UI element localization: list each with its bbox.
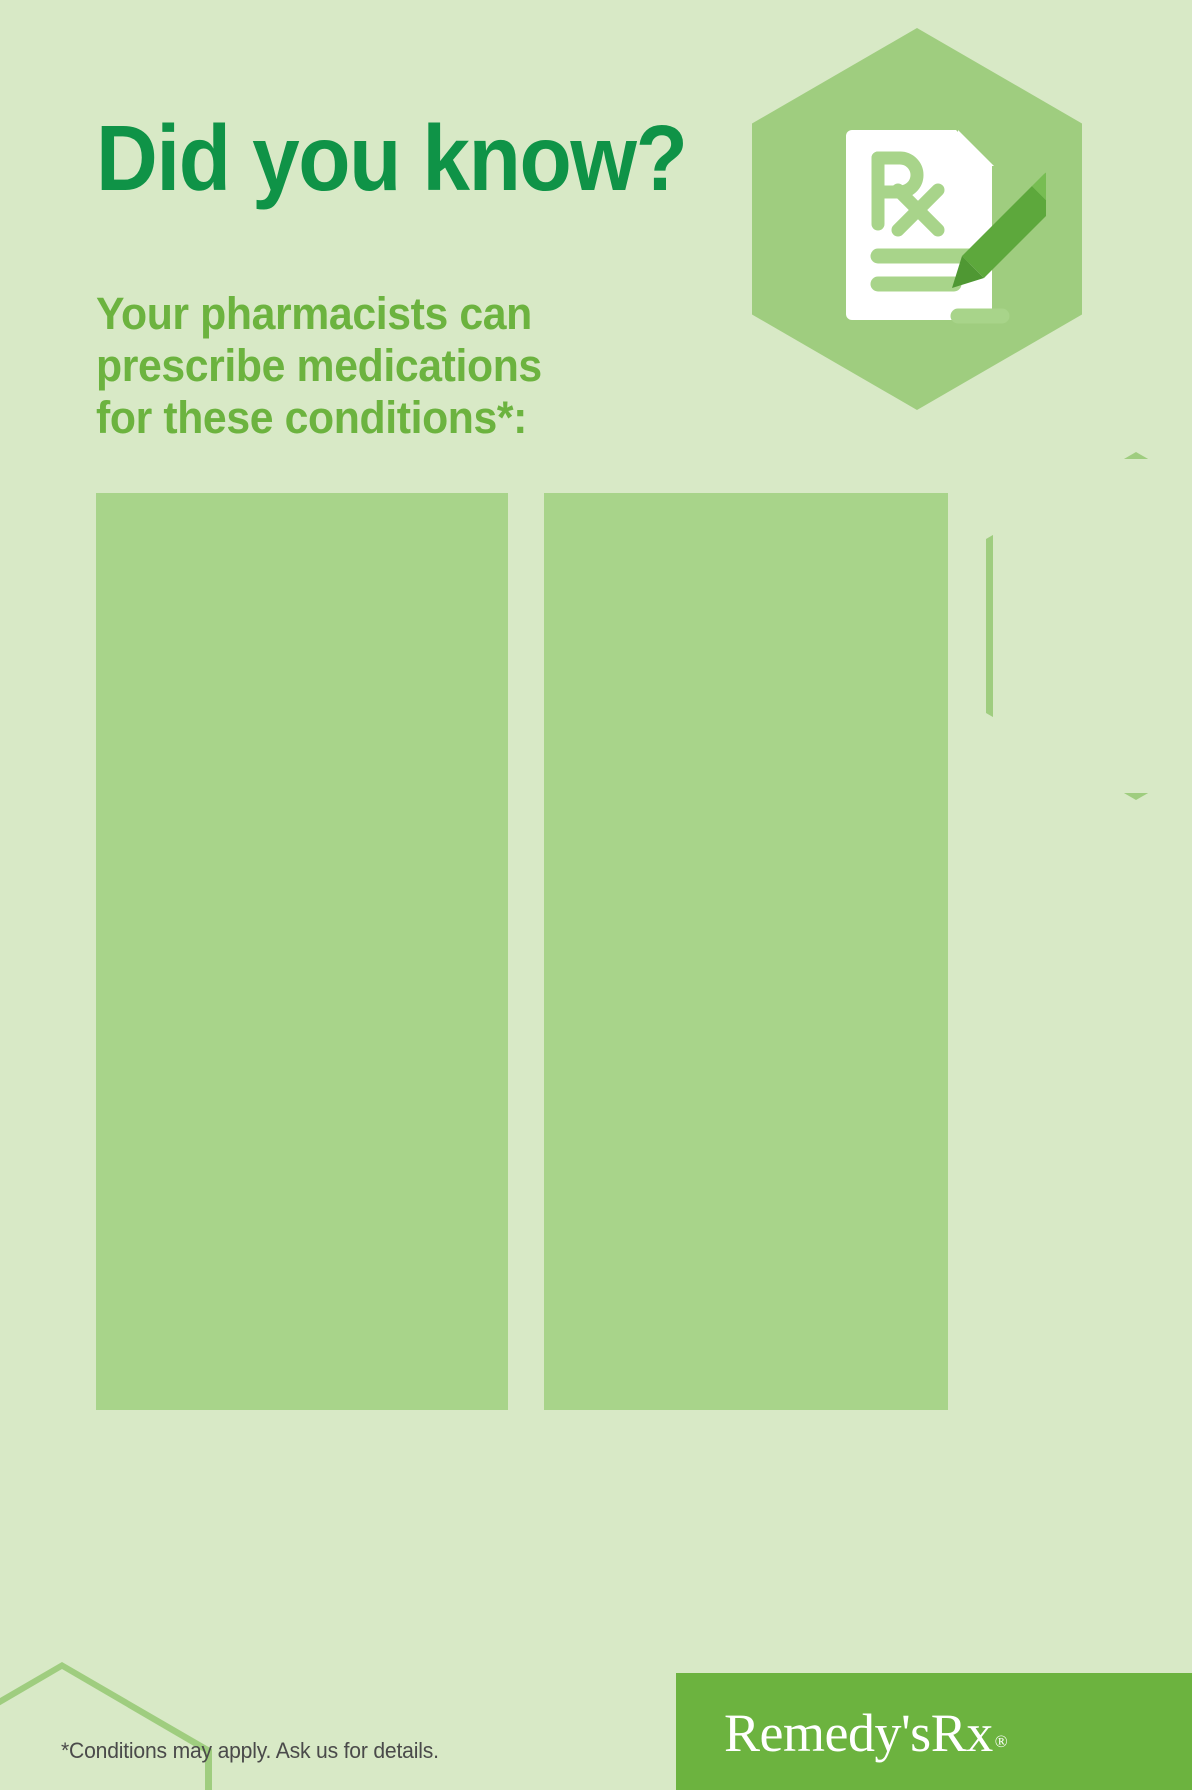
footnote-text: *Conditions may apply. Ask us for detail… [61,1738,439,1764]
poster-canvas: Did you know? Your pharmacists can presc… [0,0,1192,1790]
rx-prescription-document-icon [846,120,1046,335]
subtitle-line-3: for these conditions*: [96,392,542,444]
brand-logo-block: Remedy'sRx® [676,1673,1192,1790]
hexagon-outline-right-edge [986,452,1192,800]
subtitle-line-2: prescribe medications [96,340,542,392]
brand-name: Remedy'sRx [724,1703,993,1763]
subtitle-line-1: Your pharmacists can [96,288,542,340]
conditions-panel-left [96,493,508,1410]
subtitle: Your pharmacists can prescribe medicatio… [96,288,542,444]
brand-logo-text: Remedy'sRx® [724,1702,1007,1764]
registered-trademark-icon: ® [995,1732,1007,1751]
hexagon-outline-bottom-left [0,1662,212,1790]
conditions-panel-right [544,493,948,1410]
page-title: Did you know? [96,112,686,205]
